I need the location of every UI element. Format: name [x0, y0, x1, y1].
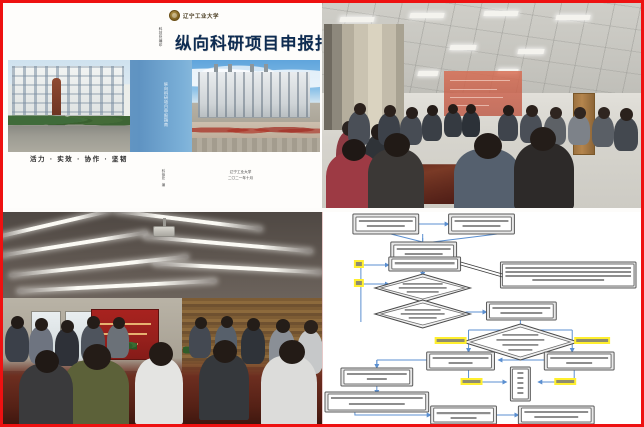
- hall-ceiling: [3, 212, 322, 302]
- flow-decision: [375, 300, 471, 328]
- attendee-head: [221, 316, 233, 328]
- attendee-head: [304, 320, 318, 334]
- flow-decision: [375, 274, 471, 302]
- attendee-head: [35, 350, 59, 373]
- cover-vertical-caption: 科技处编印: [155, 27, 163, 47]
- university-logo-row: 辽宁工业大学: [169, 10, 219, 21]
- flow-node: [341, 368, 413, 386]
- attendee-head: [427, 105, 438, 116]
- cover-imprint: 辽宁工业大学 二〇二一年十月: [228, 169, 253, 182]
- edge-label-highlight: [435, 337, 467, 344]
- attendee-head: [530, 127, 556, 151]
- flow-node: [353, 214, 419, 234]
- seminar-room-photo-panel: [322, 3, 641, 208]
- attendee-head: [620, 108, 633, 121]
- attendee: [614, 117, 638, 151]
- cover-imprint-date: 二〇二一年十月: [228, 175, 253, 181]
- cover-motto: 活力 · 实效 · 协作 · 坚韧: [30, 153, 128, 163]
- attendee-head: [598, 107, 610, 119]
- attendee-head: [448, 104, 458, 114]
- attendee-foreground: [19, 364, 73, 427]
- attendee-foreground: [199, 354, 249, 420]
- attendee-head: [113, 317, 125, 329]
- flow-node: [431, 406, 497, 424]
- cover-title: 纵向科研项目申报指南: [175, 30, 322, 54]
- screenshot-collage: 辽宁工业大学 科技处编印 纵向科研项目申报指南 纵向科研项目申报指南 活力 · …: [0, 0, 644, 427]
- campus-statue-photo: [8, 60, 130, 152]
- attendee-head: [247, 318, 260, 331]
- attendee-head: [61, 320, 74, 333]
- attendee-head: [503, 105, 514, 116]
- university-seal-icon: [169, 10, 180, 21]
- attendee: [568, 115, 590, 145]
- attendee-head: [195, 317, 207, 329]
- attendee: [189, 324, 211, 358]
- attendee-foreground: [261, 356, 317, 426]
- university-name: 辽宁工业大学: [183, 12, 219, 20]
- attendee-head: [213, 340, 237, 363]
- edge-label-highlight: [461, 378, 483, 385]
- attendee: [241, 326, 265, 364]
- flow-node: [449, 214, 515, 234]
- attendee-foreground: [368, 149, 424, 208]
- attendee-head: [35, 318, 48, 331]
- attendee-head: [406, 107, 418, 119]
- flow-node: [518, 406, 594, 424]
- attendee-head: [574, 107, 586, 119]
- attendee: [422, 113, 442, 141]
- flow-node: [544, 352, 614, 370]
- attendee-head: [11, 316, 24, 329]
- edge-label-highlight: [554, 378, 576, 385]
- edge-label-highlight: [354, 279, 364, 287]
- cover-photo-band: 纵向科研项目申报指南: [8, 60, 320, 152]
- attendee: [498, 113, 518, 141]
- attendee-head: [384, 133, 410, 157]
- attendee-head: [474, 133, 502, 159]
- attendee-head: [342, 139, 366, 161]
- ceiling-projector: [153, 226, 175, 237]
- book-cover-panel: 辽宁工业大学 科技处编印 纵向科研项目申报指南 纵向科研项目申报指南 活力 · …: [3, 3, 322, 208]
- flow-node: [389, 257, 461, 271]
- attendee-head: [354, 103, 366, 115]
- attendee: [462, 111, 480, 137]
- attendee-foreground: [514, 143, 574, 208]
- lecture-hall-photo-panel: [3, 212, 322, 427]
- workflow-diagram-panel: [322, 212, 641, 427]
- attendee-head: [526, 105, 538, 117]
- attendee-head: [466, 104, 476, 114]
- attendee-foreground: [135, 358, 183, 424]
- campus-building-photo: [192, 60, 320, 152]
- workflow-svg: [323, 212, 641, 427]
- edge-label-highlight: [574, 337, 610, 344]
- flow-node: [427, 352, 495, 370]
- attendee-head: [149, 342, 173, 366]
- flow-node: [325, 392, 429, 412]
- attendee-head: [384, 105, 396, 117]
- flow-note: [500, 262, 636, 288]
- attendee: [5, 324, 29, 362]
- edge-label-highlight: [354, 260, 364, 268]
- attendee-head: [279, 340, 305, 364]
- attendee: [444, 111, 462, 137]
- attendee-head: [276, 319, 290, 333]
- attendee-head: [550, 107, 562, 119]
- attendee: [592, 115, 614, 147]
- flow-node: [486, 302, 556, 320]
- cover-spine-text: 纵向科研项目申报指南: [160, 82, 169, 127]
- attendee-head: [83, 344, 111, 370]
- attendee-head: [87, 316, 100, 329]
- flow-terminator: [510, 367, 530, 401]
- cover-editor-credit: 科技处 编: [158, 169, 165, 187]
